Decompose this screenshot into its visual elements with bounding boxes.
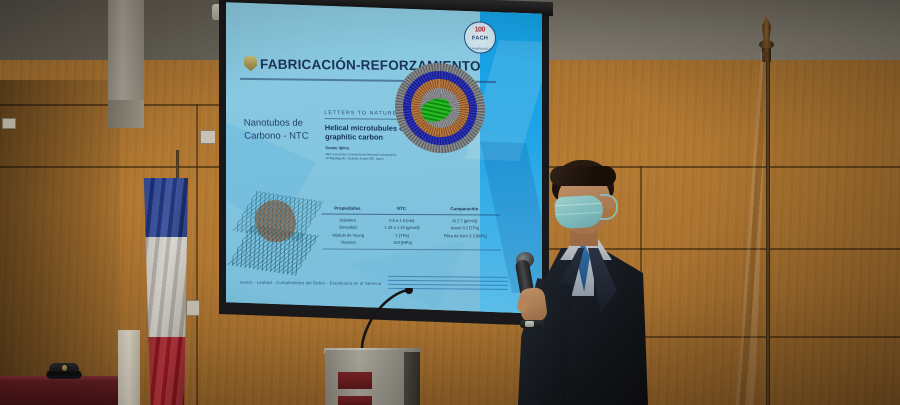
table-row: Ruptura 150 [MPa] xyxy=(322,239,500,247)
table-rule xyxy=(322,214,500,216)
table-rule xyxy=(323,248,501,250)
table-cell-ntc: 150 [MPa] xyxy=(374,239,430,247)
red-table xyxy=(0,380,118,405)
white-panel xyxy=(118,330,140,405)
gooseneck-microphone xyxy=(356,288,416,350)
wall-outlet xyxy=(186,300,200,316)
emblem-anniversary: 100 xyxy=(475,26,485,33)
emblem-name: FACH xyxy=(472,35,488,41)
table-header-cell: NTC xyxy=(373,205,429,213)
presenter xyxy=(496,160,676,405)
pillar xyxy=(108,0,144,110)
fach-emblem: 100 FACH FUERZA AEREA DE CHILE xyxy=(464,21,497,53)
table-cell-comparison xyxy=(430,239,500,247)
nanotube-cross-section-graphic xyxy=(392,60,487,156)
graphene-rolling-graphic xyxy=(231,194,330,276)
projected-slide: 100 FACH FUERZA AEREA DE CHILE FABRICACI… xyxy=(226,2,542,314)
mask-ear-loop xyxy=(600,194,618,220)
wall-outlet xyxy=(200,130,216,144)
watch-face xyxy=(525,321,534,327)
table-header-cell: Comparación xyxy=(429,205,499,213)
presentation-photo: 100 FACH FUERZA AEREA DE CHILE FABRICACI… xyxy=(0,0,900,405)
table-cell-property: Ruptura xyxy=(322,239,374,247)
wall-shadow-right xyxy=(640,60,900,405)
wall-seam xyxy=(196,104,198,405)
lectern-panel xyxy=(338,372,372,389)
wall-shadow-left xyxy=(0,80,120,405)
wall-outlet xyxy=(2,118,16,129)
pillar-base xyxy=(108,100,144,128)
cap-peak xyxy=(46,374,82,379)
gooseneck-path xyxy=(356,288,416,350)
lectern-side xyxy=(404,352,420,405)
lectern-panel xyxy=(338,396,372,405)
table-header-cell: Propiedades xyxy=(321,205,373,213)
flag-pole-right xyxy=(766,58,770,405)
spear-tip xyxy=(762,16,771,42)
emblem-arc-text: FUERZA AEREA DE CHILE xyxy=(464,47,496,50)
officer-cap xyxy=(47,363,81,378)
hair-fringe xyxy=(550,166,616,186)
properties-table: Propiedades NTC Comparación Diámetro 0.8… xyxy=(321,205,500,254)
table-header-row: Propiedades NTC Comparación xyxy=(321,205,499,214)
